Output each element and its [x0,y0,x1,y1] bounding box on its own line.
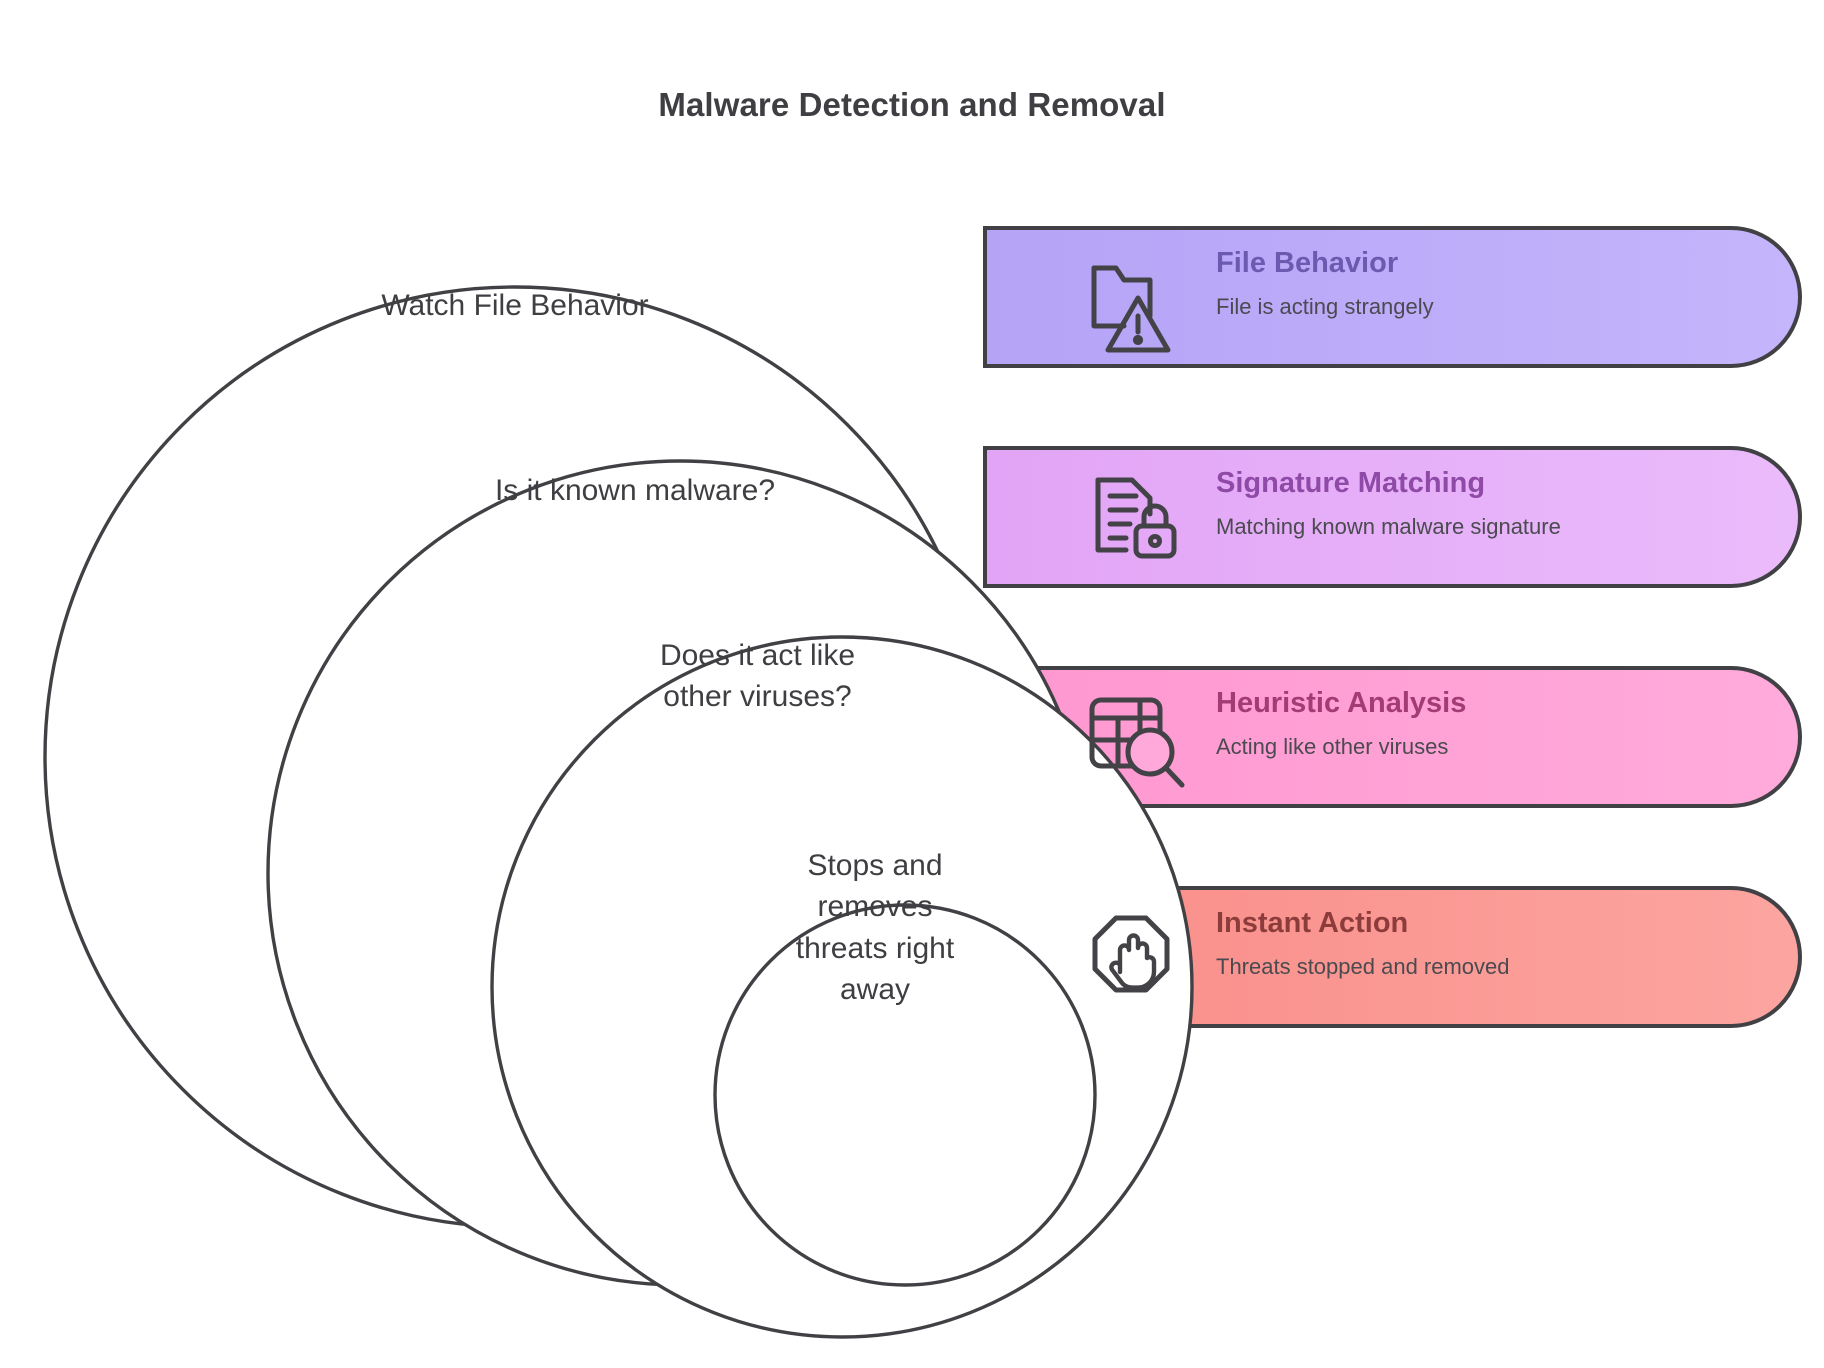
diagram-canvas: Malware Detection and Removal Watch File… [0,0,1824,1368]
band-title-2: Signature Matching [1216,468,1561,500]
band-text-3: Heuristic Analysis Acting like other vir… [1216,688,1466,760]
circle-group [45,287,1192,1337]
circle-label-1: Watch File Behavior [260,285,770,326]
band-text-2: Signature Matching Matching known malwar… [1216,468,1561,540]
band-title-3: Heuristic Analysis [1216,688,1466,720]
band-subtitle-3: Acting like other viruses [1216,734,1466,760]
band-subtitle-2: Matching known malware signature [1216,514,1561,540]
band-text-4: Instant Action Threats stopped and remov… [1216,908,1510,980]
page-title: Malware Detection and Removal [0,86,1824,124]
band-text-1: File Behavior File is acting strangely [1216,248,1434,320]
circle-label-2: Is it known malware? [420,470,850,511]
band-subtitle-4: Threats stopped and removed [1216,954,1510,980]
band-title-1: File Behavior [1216,248,1434,280]
band-subtitle-1: File is acting strangely [1216,294,1434,320]
band-title-4: Instant Action [1216,908,1510,940]
circle-label-3: Does it act like other viruses? [560,635,955,718]
circle-label-4: Stops and removes threats right away [760,845,990,1011]
